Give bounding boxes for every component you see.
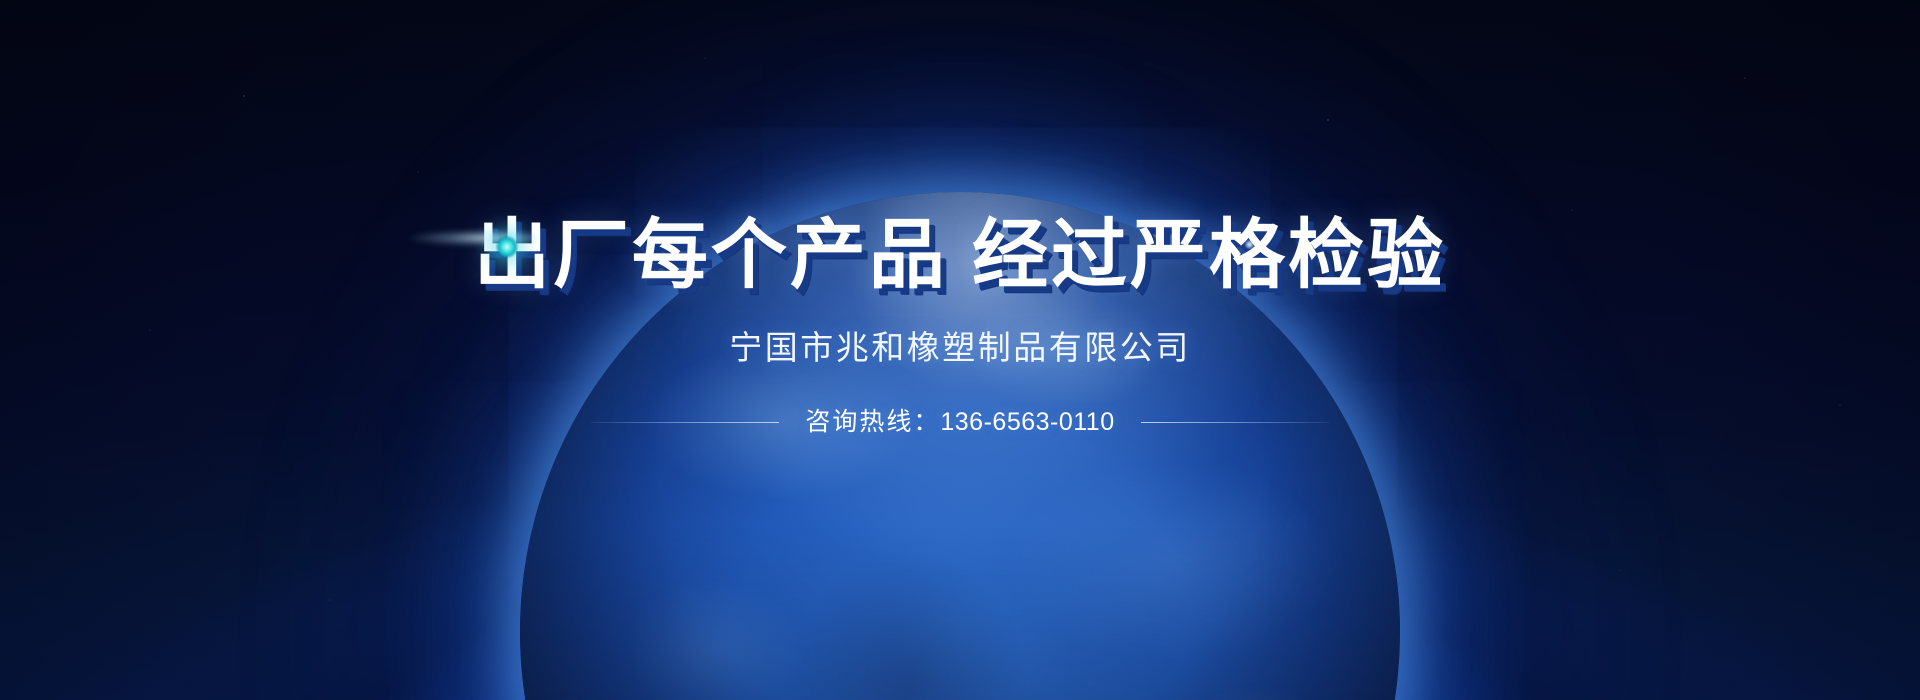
promo-banner: 出厂每个产品 经过严格检验 宁国市兆和橡塑制品有限公司 咨询热线： 136-65… bbox=[0, 0, 1920, 700]
banner-content: 出厂每个产品 经过严格检验 宁国市兆和橡塑制品有限公司 咨询热线： 136-65… bbox=[0, 0, 1920, 700]
headline-text: 出厂每个产品 经过严格检验 bbox=[474, 218, 1446, 294]
hotline-row: 咨询热线： 136-6563-0110 bbox=[591, 410, 1328, 435]
hotline-label: 咨询热线： bbox=[805, 410, 940, 435]
divider-line-right bbox=[1141, 422, 1329, 423]
company-name: 宁国市兆和橡塑制品有限公司 bbox=[729, 331, 1191, 364]
hotline-number[interactable]: 136-6563-0110 bbox=[940, 410, 1114, 435]
divider-line-left bbox=[591, 422, 779, 423]
hotline-text: 咨询热线： 136-6563-0110 bbox=[805, 410, 1114, 435]
